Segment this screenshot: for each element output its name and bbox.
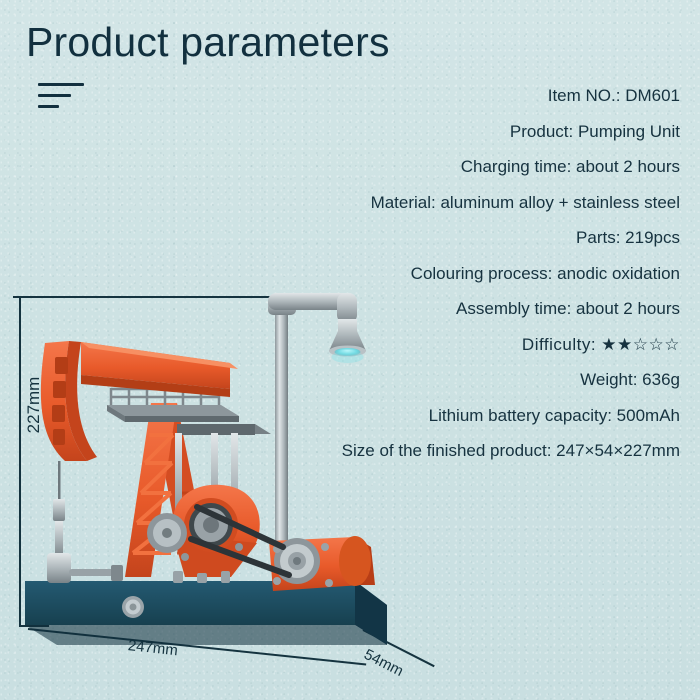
polished-rod-assembly (47, 461, 123, 583)
spec-item-no: Item NO.: DM601 (342, 78, 680, 114)
three-line-underline-icon (38, 83, 84, 116)
spec-parts: Parts: 219pcs (342, 220, 680, 256)
walking-beam (81, 342, 238, 397)
spec-product: Product: Pumping Unit (342, 114, 680, 150)
product-parameters-page: Product parameters Item NO.: DM601 Produ… (0, 0, 700, 700)
rule-line-3 (38, 105, 59, 108)
spec-charging-time: Charging time: about 2 hours (342, 149, 680, 185)
model-base-plate (25, 581, 387, 645)
rule-line-1 (38, 83, 84, 86)
dimension-line-left (19, 296, 21, 626)
motor-gearbox (269, 536, 375, 591)
page-title: Product parameters (26, 18, 390, 66)
rule-line-2 (38, 94, 71, 97)
pumping-unit-model-image (25, 285, 425, 655)
derrick-platform (107, 388, 271, 435)
spec-material: Material: aluminum alloy + stainless ste… (342, 185, 680, 221)
